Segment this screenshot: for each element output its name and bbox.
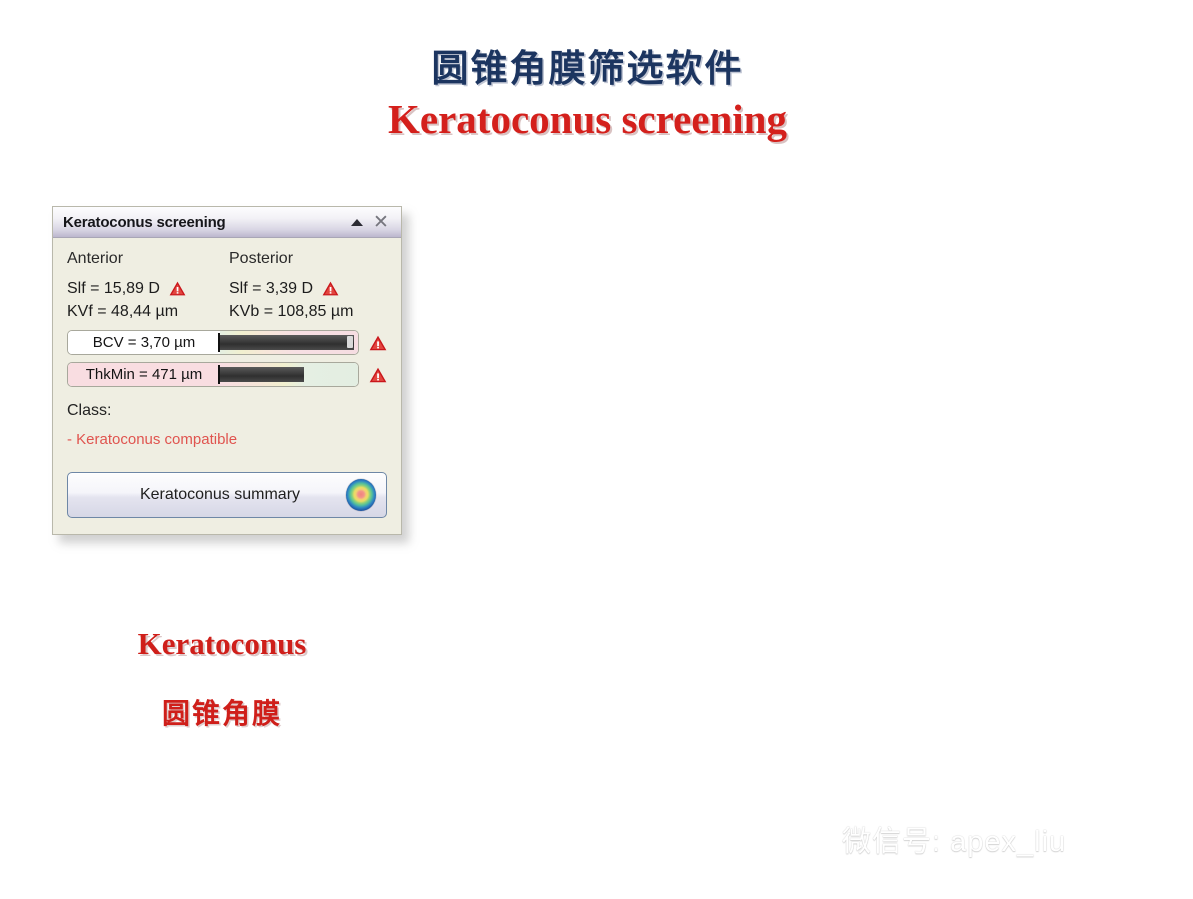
- topography-map-icon: [346, 479, 376, 511]
- dialog-title: Keratoconus screening: [63, 214, 345, 231]
- gauge-fill-bcv: [220, 335, 354, 350]
- caption-english: Keratoconus: [52, 626, 392, 662]
- slide-title-english: Keratoconus screening: [0, 95, 1193, 143]
- warning-icon: [322, 281, 339, 296]
- metric-row-kvb: KVb = 108,85 µm: [229, 300, 387, 323]
- collapse-button[interactable]: [345, 210, 369, 234]
- gauge-thkmin[interactable]: ThkMin = 471 µm: [67, 362, 359, 387]
- watermark: 微信号: apex_liu: [786, 818, 1066, 860]
- metrics-column-posterior: Posterior Slf = 3,39 D KVb = 108,85 µm: [225, 250, 387, 323]
- warning-icon: [369, 367, 387, 383]
- gauge-bcv[interactable]: BCV = 3,70 µm: [67, 330, 359, 355]
- gauge-marker-bcv: [347, 336, 353, 348]
- gauge-track-thkmin: [220, 363, 358, 386]
- metric-row-slf-anterior: Slf = 15,89 D: [67, 277, 225, 300]
- caption-chinese: 圆锥角膜: [52, 692, 392, 732]
- metric-value-slf-anterior: Slf = 15,89 D: [67, 280, 160, 298]
- slide-title-english-text: Keratoconus screening: [388, 95, 787, 143]
- dialog-body: Anterior Slf = 15,89 D KVf = 48,44 µm: [53, 238, 401, 534]
- keratoconus-screening-dialog: Keratoconus screening ✕ Anterior Slf = 1…: [52, 206, 402, 535]
- warning-icon: [369, 335, 387, 351]
- gauge-fill-thkmin: [220, 367, 304, 382]
- metric-row-slf-posterior: Slf = 3,39 D: [229, 277, 387, 300]
- column-heading-anterior: Anterior: [67, 250, 225, 268]
- keratoconus-summary-button-label: Keratoconus summary: [68, 486, 386, 504]
- column-heading-posterior: Posterior: [229, 250, 387, 268]
- dialog-titlebar[interactable]: Keratoconus screening ✕: [53, 207, 401, 238]
- metric-value-slf-posterior: Slf = 3,39 D: [229, 280, 313, 298]
- metric-value-kvb: KVb = 108,85 µm: [229, 303, 353, 321]
- close-icon: ✕: [373, 213, 389, 232]
- gauge-label-bcv: BCV = 3,70 µm: [68, 331, 220, 354]
- warning-icon: [169, 281, 186, 296]
- close-button[interactable]: ✕: [369, 210, 393, 234]
- gauge-row-bcv: BCV = 3,70 µm: [67, 330, 387, 355]
- metric-row-kvf: KVf = 48,44 µm: [67, 300, 225, 323]
- metric-value-kvf: KVf = 48,44 µm: [67, 303, 178, 321]
- slide-title-chinese: 圆锥角膜筛选软件: [0, 38, 1193, 92]
- keratoconus-summary-button[interactable]: Keratoconus summary: [67, 472, 387, 518]
- wechat-icon: [786, 822, 832, 856]
- class-label: Class:: [67, 402, 387, 420]
- gauge-label-thkmin: ThkMin = 471 µm: [68, 363, 220, 386]
- slide-title-chinese-text: 圆锥角膜筛选软件: [432, 38, 744, 92]
- gauge-row-thkmin: ThkMin = 471 µm: [67, 362, 387, 387]
- class-value: - Keratoconus compatible: [67, 431, 387, 448]
- metrics-section: Anterior Slf = 15,89 D KVf = 48,44 µm: [67, 250, 387, 323]
- gauge-track-bcv: [220, 331, 358, 354]
- watermark-text: 微信号: apex_liu: [842, 818, 1066, 860]
- metrics-column-anterior: Anterior Slf = 15,89 D KVf = 48,44 µm: [67, 250, 225, 323]
- triangle-up-icon: [351, 219, 363, 226]
